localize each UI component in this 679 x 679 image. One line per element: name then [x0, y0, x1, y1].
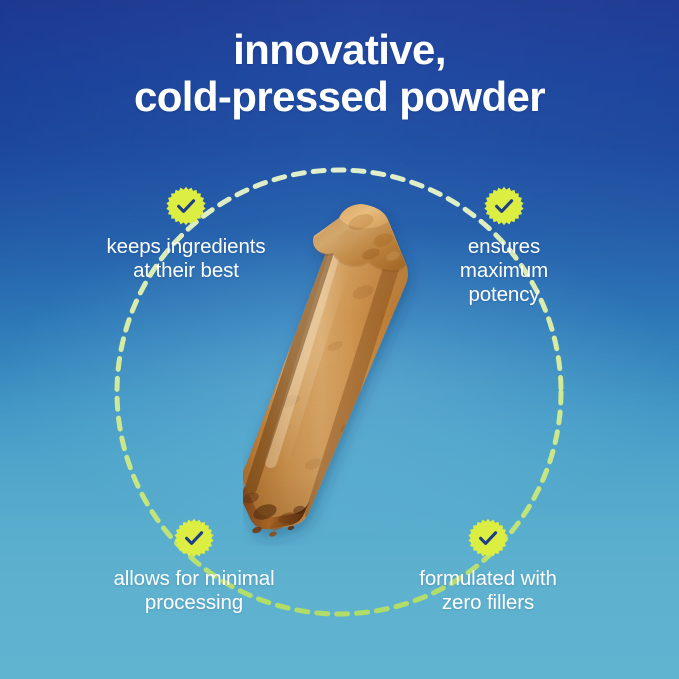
- feature-caption: keeps ingredients at their best: [66, 235, 306, 283]
- check-badge-icon: [484, 186, 524, 226]
- headline-line-2: cold-pressed powder: [0, 73, 679, 120]
- feature-ensures-maximum-potency: ensures maximum potency: [384, 186, 624, 306]
- feature-keeps-ingredients-at-their-best: keeps ingredients at their best: [66, 186, 306, 283]
- product-feature-graphic: keeps ingredients at their best ensures …: [0, 0, 679, 679]
- check-badge-icon: [468, 518, 508, 558]
- feature-caption: ensures maximum potency: [384, 235, 624, 306]
- feature-caption: formulated with zero fillers: [368, 567, 608, 615]
- check-badge-icon: [166, 186, 206, 226]
- feature-caption: allows for minimal processing: [74, 567, 314, 615]
- feature-allows-for-minimal-processing: allows for minimal processing: [74, 518, 314, 615]
- headline-line-1: innovative,: [0, 26, 679, 73]
- check-badge-icon: [174, 518, 214, 558]
- feature-formulated-with-zero-fillers: formulated with zero fillers: [368, 518, 608, 615]
- headline: innovative, cold-pressed powder: [0, 26, 679, 120]
